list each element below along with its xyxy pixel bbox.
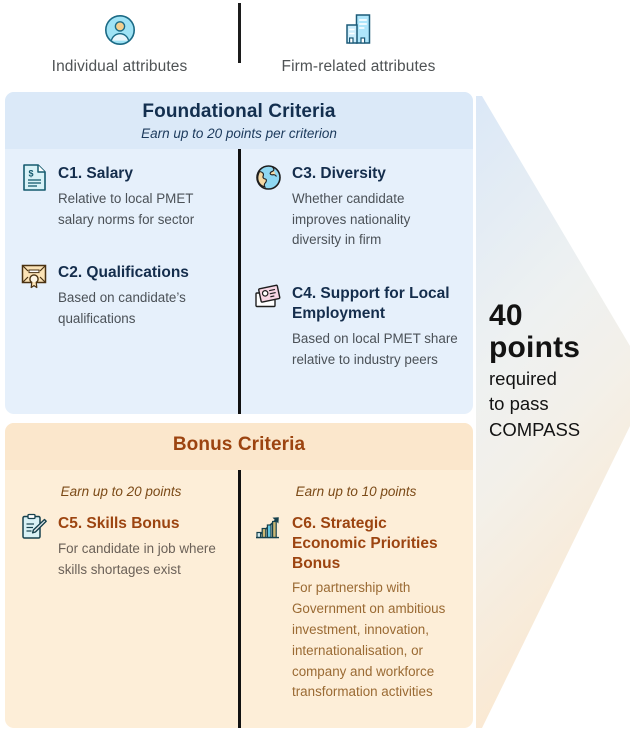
criterion-c2-desc: Based on candidate’s qualifications xyxy=(58,288,223,330)
criterion-c5-body: C5. Skills Bonus For candidate in job wh… xyxy=(58,511,223,580)
criterion-c6-title: C6. Strategic Economic Priorities Bonus xyxy=(292,514,459,573)
bonus-title: Bonus Criteria xyxy=(5,434,473,456)
office-buildings-icon xyxy=(342,0,376,56)
criterion-c2-title: C2. Qualifications xyxy=(58,263,223,283)
criterion-c3-desc: Whether candidate improves nationality d… xyxy=(292,189,459,251)
foundational-title: Foundational Criteria xyxy=(5,101,473,123)
header-label-individual: Individual attributes xyxy=(52,58,188,76)
header-column-individual: Individual attributes xyxy=(0,0,239,90)
criterion-c6: C6. Strategic Economic Priorities Bonus … xyxy=(253,511,459,703)
id-badge-icon xyxy=(253,282,283,312)
points-word: points xyxy=(489,332,609,364)
pass-line-2: to pass xyxy=(489,392,609,416)
pass-line-3: COMPASS xyxy=(489,418,609,442)
criterion-c5-desc: For candidate in job where skills shorta… xyxy=(58,539,223,581)
criterion-c4-body: C4. Support for Local Employment Based o… xyxy=(292,281,459,370)
header-label-firm: Firm-related attributes xyxy=(282,58,436,76)
svg-text:$: $ xyxy=(28,168,33,178)
foundational-left-column: $ C1. Salary Relative to local PMET sala… xyxy=(5,149,239,414)
foundational-subtitle: Earn up to 20 points per criterion xyxy=(5,126,473,141)
foundational-criteria-band: Foundational Criteria Earn up to 20 poin… xyxy=(5,92,473,149)
criterion-c1-title: C1. Salary xyxy=(58,164,223,184)
criterion-c3-title: C3. Diversity xyxy=(292,164,459,184)
criterion-c5-title: C5. Skills Bonus xyxy=(58,514,223,534)
globe-icon xyxy=(253,162,283,192)
foundational-column-divider xyxy=(238,149,241,414)
criterion-c6-desc: For partnership with Government on ambit… xyxy=(292,578,459,703)
pass-line-1: required xyxy=(489,367,609,391)
bonus-criteria-panel: Bonus Criteria Earn up to 20 points xyxy=(5,423,473,728)
criterion-c4: C4. Support for Local Employment Based o… xyxy=(253,281,459,370)
criterion-c4-title: C4. Support for Local Employment xyxy=(292,284,459,324)
foundational-columns: $ C1. Salary Relative to local PMET sala… xyxy=(5,149,473,414)
bonus-criteria-band: Bonus Criteria xyxy=(5,423,473,470)
bonus-left-column: Earn up to 20 points C5. Skills Bonus Fo… xyxy=(5,470,239,728)
salary-document-icon: $ xyxy=(19,162,49,192)
criterion-c4-desc: Based on local PMET share relative to in… xyxy=(292,329,459,371)
certificate-icon xyxy=(19,261,49,291)
attribute-header-row: Individual attributes Firm-related attri… xyxy=(0,0,478,90)
bonus-columns: Earn up to 20 points C5. Skills Bonus Fo… xyxy=(5,470,473,728)
criterion-c1-body: C1. Salary Relative to local PMET salary… xyxy=(58,161,223,230)
criterion-c6-body: C6. Strategic Economic Priorities Bonus … xyxy=(292,511,459,703)
criterion-c3-body: C3. Diversity Whether candidate improves… xyxy=(292,161,459,251)
clipboard-pencil-icon xyxy=(19,512,49,542)
bonus-column-divider xyxy=(238,470,241,728)
bonus-right-points-note: Earn up to 10 points xyxy=(253,484,459,499)
criterion-c1: $ C1. Salary Relative to local PMET sala… xyxy=(19,161,223,230)
points-number: 40 xyxy=(489,300,609,332)
pass-threshold-text: 40 points required to pass COMPASS xyxy=(489,300,609,442)
criterion-c2: C2. Qualifications Based on candidate’s … xyxy=(19,260,223,329)
criterion-c1-desc: Relative to local PMET salary norms for … xyxy=(58,189,223,231)
criterion-c5: C5. Skills Bonus For candidate in job wh… xyxy=(19,511,223,580)
foundational-criteria-panel: Foundational Criteria Earn up to 20 poin… xyxy=(5,92,473,414)
header-column-firm: Firm-related attributes xyxy=(239,0,478,90)
person-circle-icon xyxy=(103,0,137,56)
criterion-c3: C3. Diversity Whether candidate improves… xyxy=(253,161,459,251)
bonus-left-points-note: Earn up to 20 points xyxy=(19,484,223,499)
bonus-right-column: Earn up to 10 points C6. Strategic Econo… xyxy=(239,470,473,728)
growth-chart-icon xyxy=(253,512,283,542)
foundational-right-column: C3. Diversity Whether candidate improves… xyxy=(239,149,473,414)
header-vertical-divider xyxy=(238,3,241,63)
criterion-c2-body: C2. Qualifications Based on candidate’s … xyxy=(58,260,223,329)
